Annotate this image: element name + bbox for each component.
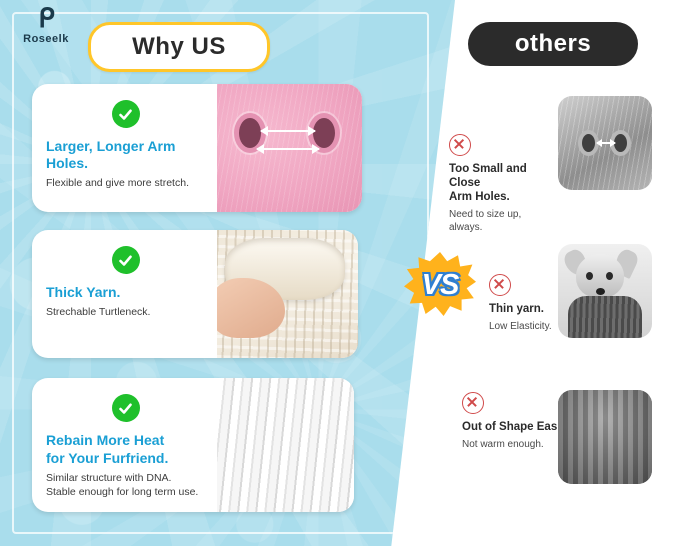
why-us-banner: Why US bbox=[88, 22, 270, 72]
brand-logo: ᑭ Roseelk bbox=[10, 6, 82, 45]
shading-overlay bbox=[558, 390, 652, 484]
con-item-1-subtitle: Need to size up, always. bbox=[449, 208, 549, 234]
cross-icon bbox=[462, 392, 484, 414]
con-item-2-image bbox=[558, 244, 652, 338]
measure-arrow bbox=[597, 142, 615, 144]
check-icon bbox=[112, 100, 140, 128]
white-wavy-knit-image bbox=[217, 378, 354, 512]
pro-card-3-title-line1: Rebain More Heat bbox=[46, 432, 164, 449]
arm-hole-left bbox=[582, 134, 595, 152]
brand-name: Roseelk bbox=[10, 33, 82, 45]
pro-card-2: Thick Yarn. Strechable Turtleneck. bbox=[32, 230, 358, 358]
pro-card-1-subtitle: Flexible and give more stretch. bbox=[46, 176, 189, 190]
con-item-1-image bbox=[558, 96, 652, 190]
vs-label: VS bbox=[404, 252, 476, 318]
pink-fabric-arm-holes-image bbox=[217, 84, 362, 212]
pro-card-2-text: Thick Yarn. Strechable Turtleneck. bbox=[32, 230, 217, 358]
dog-eye-right bbox=[606, 272, 613, 280]
con-item-1-title-line1: Too Small and Close bbox=[449, 162, 549, 190]
pro-card-2-title: Thick Yarn. bbox=[46, 284, 120, 301]
dog-nose bbox=[596, 288, 605, 295]
wave-texture bbox=[217, 378, 354, 512]
con-item-1-title-line2: Arm Holes. bbox=[449, 190, 549, 204]
pro-card-3-title-line2: for Your Furfriend. bbox=[46, 450, 168, 467]
pro-card-1-title: Larger, Longer Arm Holes. bbox=[46, 138, 205, 172]
pro-card-3-text: Rebain More Heat for Your Furfriend. Sim… bbox=[32, 378, 217, 512]
cross-icon bbox=[449, 134, 471, 156]
logo-mark-icon: ᑭ bbox=[10, 6, 82, 32]
measure-arrow-top bbox=[261, 130, 315, 132]
pro-card-1-text: Larger, Longer Arm Holes. Flexible and g… bbox=[32, 84, 217, 212]
pro-card-3-subtitle-line2: Stable enough for long term use. bbox=[46, 485, 198, 499]
others-banner: others bbox=[468, 22, 638, 66]
measure-arrow-bottom bbox=[257, 148, 319, 150]
others-banner-label: others bbox=[515, 30, 591, 58]
why-us-banner-label: Why US bbox=[132, 33, 226, 61]
cream-knit-turtleneck-image bbox=[217, 230, 358, 358]
comparison-infographic: ᑭ Roseelk Why US others Larger, Longer A… bbox=[0, 0, 679, 546]
pro-card-2-subtitle: Strechable Turtleneck. bbox=[46, 305, 150, 319]
check-icon bbox=[112, 394, 140, 422]
pro-card-3-subtitle-line1: Similar structure with DNA. bbox=[46, 471, 171, 485]
vs-badge: VS bbox=[404, 252, 476, 318]
con-item-1: Too Small and Close Arm Holes. Need to s… bbox=[449, 134, 549, 234]
pro-card-3: Rebain More Heat for Your Furfriend. Sim… bbox=[32, 378, 354, 512]
pro-card-1: Larger, Longer Arm Holes. Flexible and g… bbox=[32, 84, 362, 212]
dog-eye-left bbox=[586, 272, 593, 280]
check-icon bbox=[112, 246, 140, 274]
con-item-3-image bbox=[558, 390, 652, 484]
dog-sweater bbox=[568, 296, 642, 338]
cross-icon bbox=[489, 274, 511, 296]
